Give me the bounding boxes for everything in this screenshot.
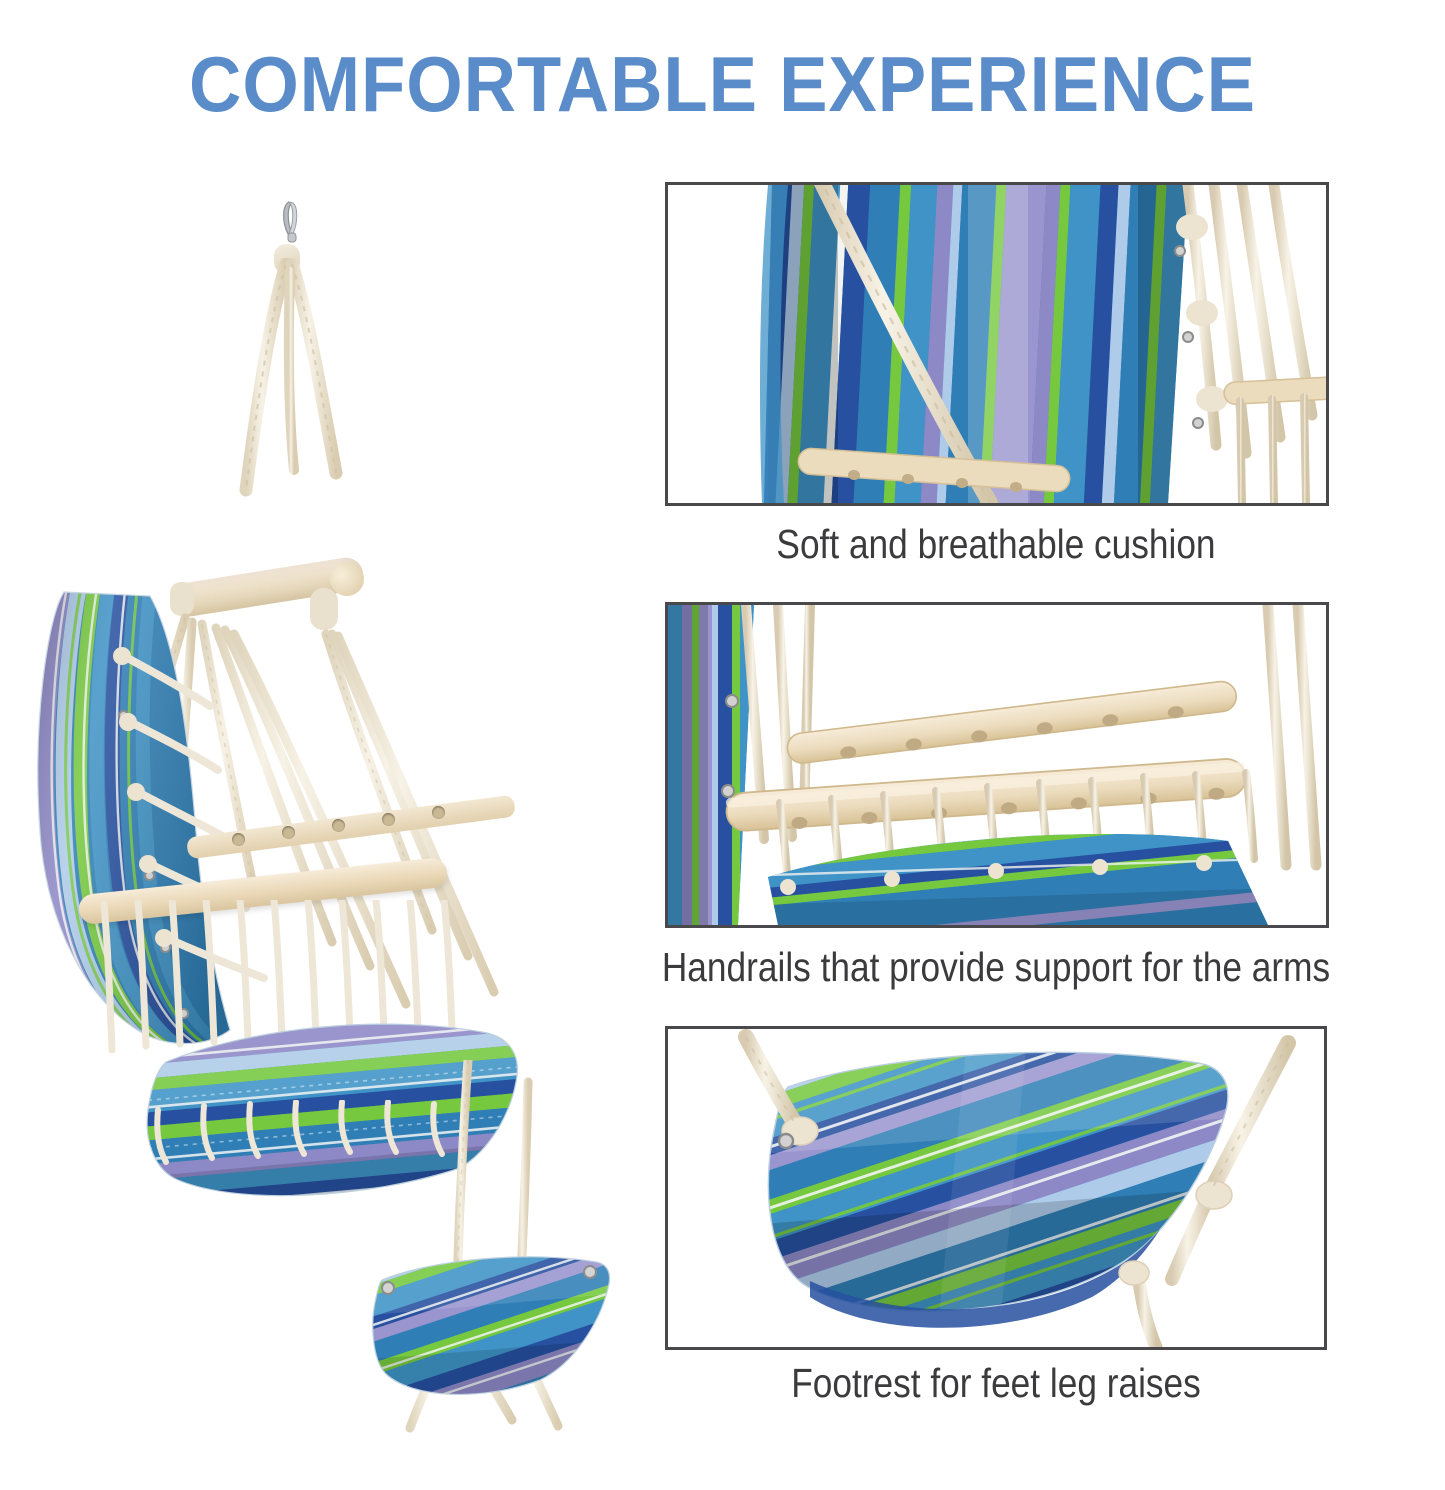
caption-footrest: Footrest for feet leg raises bbox=[656, 1360, 1335, 1407]
page-title: COMFORTABLE EXPERIENCE bbox=[51, 44, 1395, 126]
handrail-closeup-illustration bbox=[668, 605, 1326, 925]
footrest-closeup-illustration bbox=[668, 1029, 1324, 1347]
detail-panel-footrest bbox=[665, 1026, 1327, 1350]
suspension-rope-triangle bbox=[20, 258, 640, 588]
caption-cushion: Soft and breathable cushion bbox=[656, 521, 1335, 568]
cushion-closeup-illustration bbox=[668, 185, 1326, 503]
caption-handrail: Handrails that provide support for the a… bbox=[656, 944, 1335, 991]
detail-panel-cushion bbox=[665, 182, 1329, 506]
hero-product-image bbox=[20, 170, 640, 1370]
infographic-canvas: COMFORTABLE EXPERIENCE bbox=[0, 0, 1445, 1445]
hanging-footrest bbox=[360, 1240, 660, 1425]
detail-panel-handrail bbox=[665, 602, 1329, 928]
